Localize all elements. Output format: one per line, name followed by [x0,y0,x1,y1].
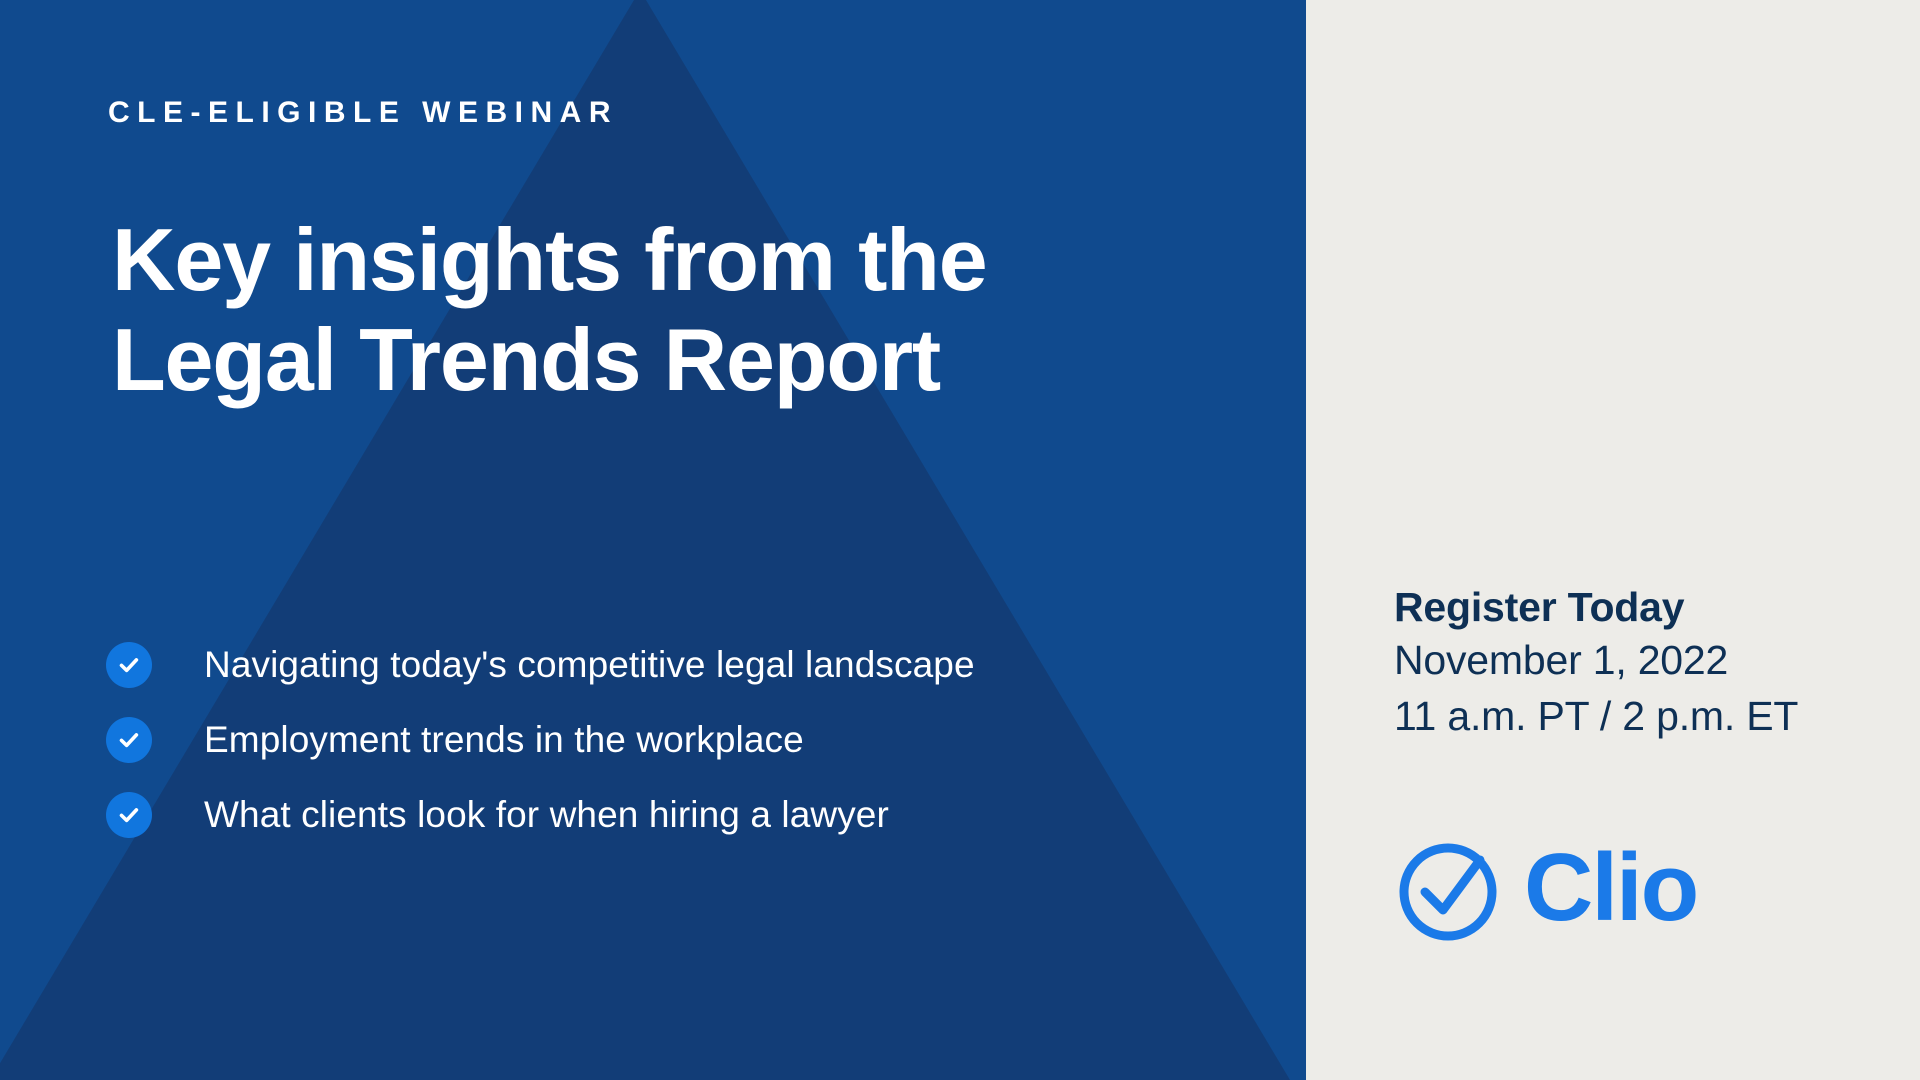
list-item-label: Navigating today's competitive legal lan… [204,644,975,686]
event-time: 11 a.m. PT / 2 p.m. ET [1394,688,1914,744]
clio-check-circle-icon [1394,838,1502,951]
clio-wordmark: Clio [1524,840,1784,949]
feature-bullet-list: Navigating today's competitive legal lan… [106,627,1226,852]
list-item: Navigating today's competitive legal lan… [106,627,1226,702]
clio-logo: Clio [1394,838,1784,951]
list-item: Employment trends in the workplace [106,702,1226,777]
registration-details: Register Today November 1, 2022 11 a.m. … [1394,582,1914,744]
left-hero-panel: CLE-ELIGIBLE WEBINAR Key insights from t… [0,0,1306,1080]
right-info-panel: Register Today November 1, 2022 11 a.m. … [1306,0,1920,1080]
headline-line-1: Key insights from the [112,210,1212,310]
headline-line-2: Legal Trends Report [112,310,1212,410]
check-circle-icon [106,642,152,688]
page-title: Key insights from the Legal Trends Repor… [112,210,1212,411]
event-date: November 1, 2022 [1394,632,1914,688]
check-circle-icon [106,792,152,838]
check-circle-icon [106,717,152,763]
list-item-label: What clients look for when hiring a lawy… [204,794,889,836]
list-item-label: Employment trends in the workplace [204,719,804,761]
svg-text:Clio: Clio [1524,840,1697,941]
eyebrow-label: CLE-ELIGIBLE WEBINAR [108,96,618,130]
list-item: What clients look for when hiring a lawy… [106,777,1226,852]
triangle-watermark-icon [0,0,1306,1080]
register-heading: Register Today [1394,582,1914,632]
webinar-promo-graphic: CLE-ELIGIBLE WEBINAR Key insights from t… [0,0,1920,1080]
